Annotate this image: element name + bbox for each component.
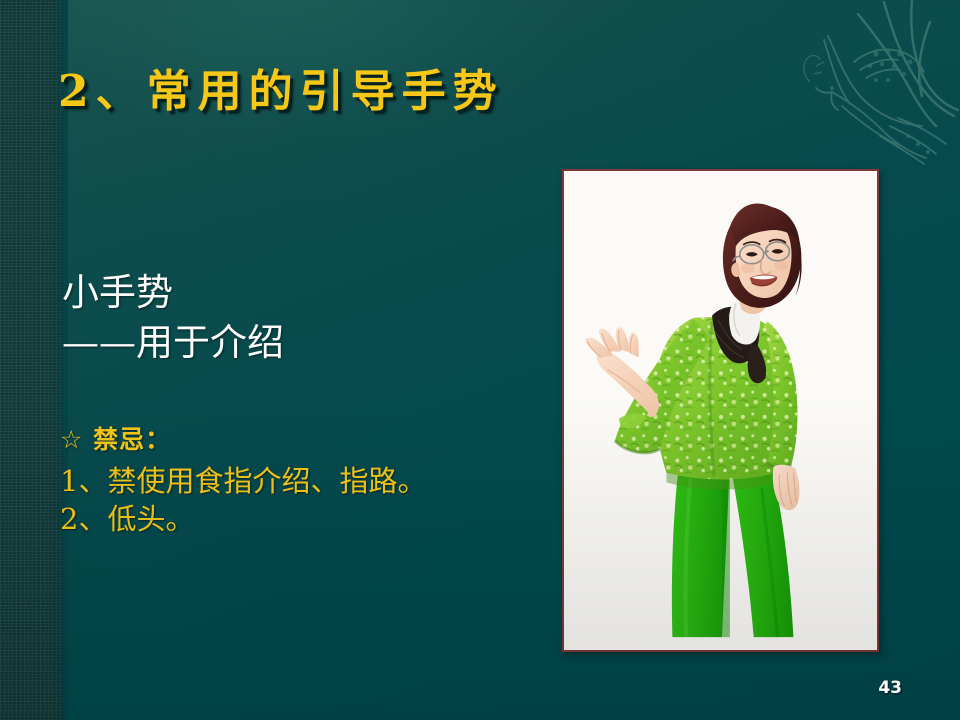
- taboo-heading-label: 禁忌：: [93, 425, 171, 454]
- phoenix-corner-ornament: [780, 0, 960, 166]
- body-line-1: 小手势: [62, 271, 173, 314]
- photo-image: [564, 171, 877, 650]
- taboo-block: ☆ 禁忌： 1、禁使用食指介绍、指路。 2、低头。: [60, 420, 426, 539]
- page-title: 2、常用的引导手势: [58, 55, 504, 119]
- taboo-heading: ☆ 禁忌：: [60, 420, 426, 456]
- photo-frame: [562, 169, 879, 652]
- body-text-block: 小手势 ——用于介绍: [62, 268, 284, 367]
- page-number: 43: [878, 678, 902, 698]
- star-icon: ☆: [60, 425, 83, 454]
- slide-canvas: 2、常用的引导手势 小手势 ——用于介绍 ☆ 禁忌： 1、禁使用食指介绍、指路。…: [0, 0, 960, 720]
- taboo-item: 1、禁使用食指介绍、指路。: [60, 462, 426, 500]
- body-line-2: ——用于介绍: [62, 318, 284, 368]
- taboo-item: 2、低头。: [60, 500, 426, 538]
